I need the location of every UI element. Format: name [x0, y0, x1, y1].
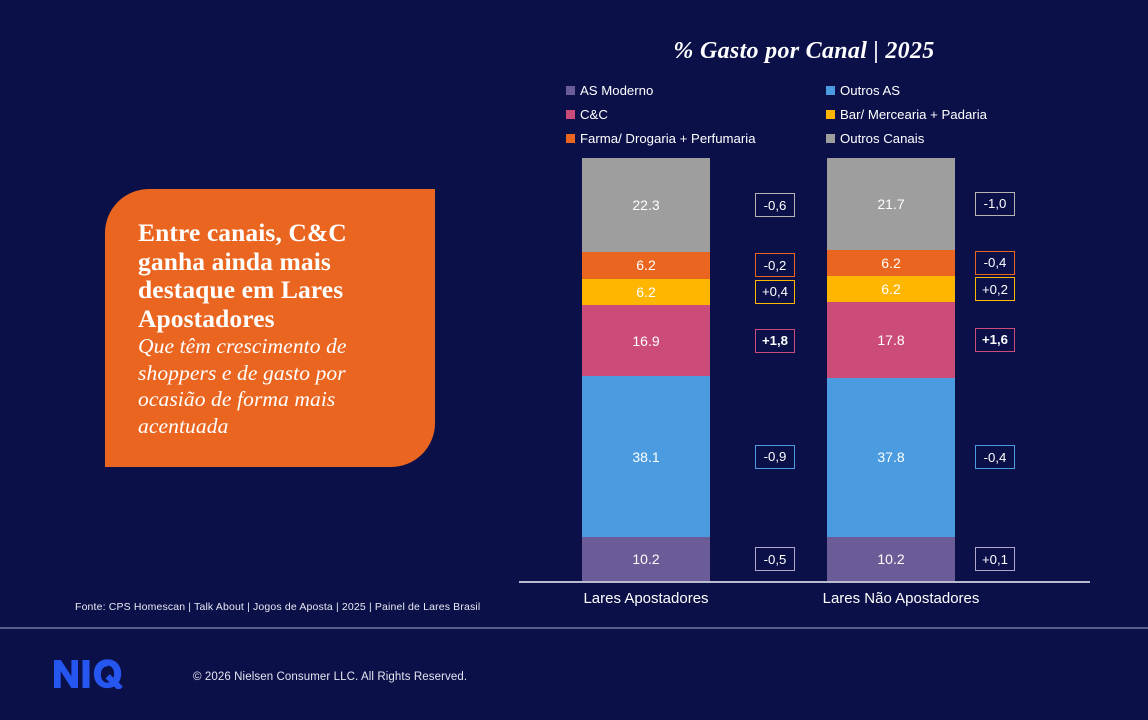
legend-swatch-icon	[566, 86, 575, 95]
source-note: Fonte: CPS Homescan | Talk About | Jogos…	[75, 601, 480, 613]
stacked-bar[interactable]: 22.36.26.216.938.110.2	[582, 158, 710, 581]
delta-badge: +0,4	[755, 280, 795, 304]
legend-item[interactable]: AS Moderno	[566, 78, 826, 102]
insight-callout-box: Entre canais, C&C ganha ainda mais desta…	[105, 189, 435, 467]
bar-segment[interactable]: 6.2	[827, 250, 955, 276]
delta-badge: -0,4	[975, 445, 1015, 469]
bar-segment-value: 6.2	[636, 284, 655, 300]
bar-segment[interactable]: 37.8	[827, 378, 955, 538]
legend-item[interactable]: Outros Canais	[826, 126, 1086, 150]
delta-badge: +0,2	[975, 277, 1015, 301]
footer-divider	[0, 627, 1148, 629]
bar-segment-value: 10.2	[877, 551, 904, 567]
bar-segment[interactable]: 22.3	[582, 158, 710, 252]
legend-item[interactable]: Bar/ Mercearia + Padaria	[826, 102, 1086, 126]
delta-badge: -1,0	[975, 192, 1015, 216]
bar-segment-value: 6.2	[636, 257, 655, 273]
delta-badge: -0,5	[755, 547, 795, 571]
bar-segment-value: 37.8	[877, 449, 904, 465]
bar-segment-value: 6.2	[881, 255, 900, 271]
bar-segment-value: 16.9	[632, 333, 659, 349]
legend-item-label: Bar/ Mercearia + Padaria	[840, 107, 987, 122]
delta-badge: -0,9	[755, 445, 795, 469]
chart-legend: AS ModernoOutros ASC&CBar/ Mercearia + P…	[566, 78, 1086, 150]
legend-item-label: Farma/ Drogaria + Perfumaria	[580, 131, 756, 146]
legend-item-label: C&C	[580, 107, 608, 122]
legend-item-label: Outros Canais	[840, 131, 924, 146]
bar-segment[interactable]: 10.2	[582, 537, 710, 580]
legend-item[interactable]: Outros AS	[826, 78, 1086, 102]
legend-swatch-icon	[826, 86, 835, 95]
delta-badge: -0,2	[755, 253, 795, 277]
legend-swatch-icon	[826, 110, 835, 119]
bar-segment[interactable]: 6.2	[582, 252, 710, 278]
bar-segment[interactable]: 16.9	[582, 305, 710, 376]
copyright-text: © 2026 Nielsen Consumer LLC. All Rights …	[193, 671, 467, 683]
x-axis-line	[519, 581, 1090, 583]
stacked-bar[interactable]: 21.76.26.217.837.810.2	[827, 158, 955, 581]
delta-badge: +0,1	[975, 547, 1015, 571]
legend-swatch-icon	[826, 134, 835, 143]
callout-subtext: Que têm crescimento de shoppers e de gas…	[138, 333, 405, 439]
bar-segment[interactable]: 21.7	[827, 158, 955, 250]
chart-plot-area: 22.36.26.216.938.110.2-0,6-0,2+0,4+1,8-0…	[519, 158, 1090, 581]
bar-segment-value: 6.2	[881, 281, 900, 297]
delta-column: -1,0-0,4+0,2+1,6-0,4+0,1	[975, 158, 1015, 581]
legend-item[interactable]: Farma/ Drogaria + Perfumaria	[566, 126, 826, 150]
callout-heading: Entre canais, C&C ganha ainda mais desta…	[138, 219, 405, 333]
legend-item[interactable]: C&C	[566, 102, 826, 126]
legend-item-label: AS Moderno	[580, 83, 653, 98]
delta-column: -0,6-0,2+0,4+1,8-0,9-0,5	[755, 158, 795, 581]
bar-segment-value: 17.8	[877, 332, 904, 348]
category-label: Lares Apostadores	[536, 590, 756, 607]
bar-segment-value: 21.7	[877, 196, 904, 212]
bar-segment-value: 10.2	[632, 551, 659, 567]
delta-badge: -0,4	[975, 251, 1015, 275]
niq-logo	[54, 659, 124, 689]
slide-canvas: Entre canais, C&C ganha ainda mais desta…	[0, 0, 1148, 720]
category-label: Lares Não Apostadores	[791, 590, 1011, 607]
bar-segment[interactable]: 17.8	[827, 302, 955, 377]
bar-segment[interactable]: 10.2	[827, 537, 955, 580]
bar-segment[interactable]: 6.2	[827, 276, 955, 302]
legend-item-label: Outros AS	[840, 83, 900, 98]
delta-badge: +1,8	[755, 329, 795, 353]
delta-badge: +1,6	[975, 328, 1015, 352]
bar-segment[interactable]: 6.2	[582, 279, 710, 305]
legend-swatch-icon	[566, 134, 575, 143]
legend-swatch-icon	[566, 110, 575, 119]
x-axis-category-labels: Lares ApostadoresLares Não Apostadores	[519, 590, 1090, 614]
bar-segment-value: 38.1	[632, 449, 659, 465]
bar-segment[interactable]: 38.1	[582, 376, 710, 537]
delta-badge: -0,6	[755, 193, 795, 217]
bar-segment-value: 22.3	[632, 197, 659, 213]
chart-title: % Gasto por Canal | 2025	[519, 38, 1089, 65]
